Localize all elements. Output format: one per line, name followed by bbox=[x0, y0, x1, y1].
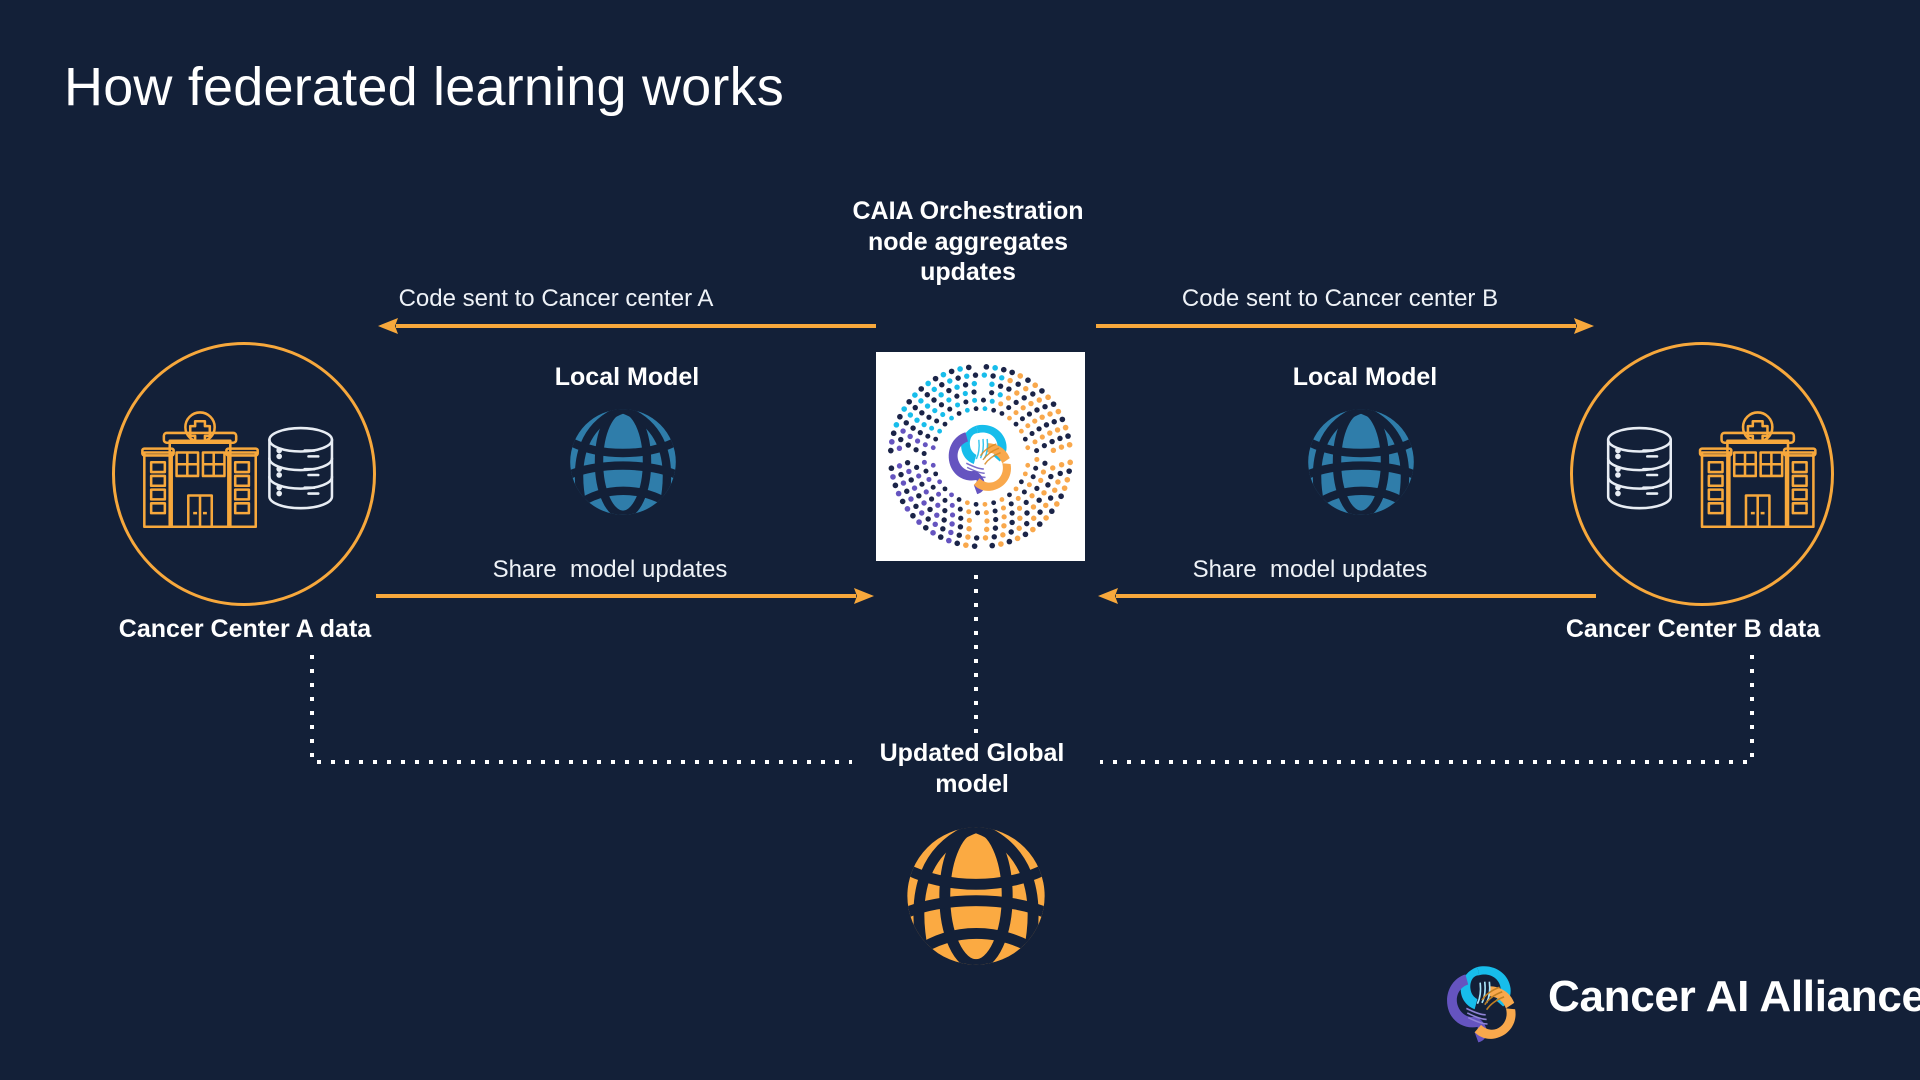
local-model-b-label: Local Model bbox=[1235, 362, 1495, 393]
globe-icon bbox=[1301, 402, 1421, 522]
orchestration-caption: CAIA Orchestration node aggregates updat… bbox=[838, 196, 1098, 288]
share-updates-a-label: Share model updates bbox=[400, 556, 820, 584]
globe-icon bbox=[898, 818, 1054, 974]
cancer-center-a-label: Cancer Center A data bbox=[60, 614, 430, 645]
cancer-center-a-icons bbox=[115, 345, 373, 603]
cancer-center-b-icons bbox=[1573, 345, 1831, 603]
code-sent-b-arrow bbox=[1096, 316, 1596, 336]
page-title: How federated learning works bbox=[64, 56, 784, 118]
share-updates-a-arrow bbox=[376, 586, 876, 606]
cancer-center-a-circle bbox=[112, 342, 376, 606]
code-sent-a-label: Code sent to Cancer center A bbox=[346, 285, 766, 313]
updated-global-model-label: Updated Global model bbox=[832, 738, 1112, 799]
cancer-center-b-circle bbox=[1570, 342, 1834, 606]
code-sent-a-arrow bbox=[376, 316, 876, 336]
cancer-center-b-label: Cancer Center B data bbox=[1508, 614, 1878, 645]
share-updates-b-label: Share model updates bbox=[1100, 556, 1520, 584]
slide-canvas: How federated learning works CAIA Orches… bbox=[0, 0, 1920, 1080]
brand-name: Cancer AI Alliance bbox=[1548, 972, 1920, 1022]
caia-dot-ring-logo-icon bbox=[876, 352, 1085, 561]
globe-icon bbox=[563, 402, 683, 522]
local-model-a-label: Local Model bbox=[497, 362, 757, 393]
code-sent-b-label: Code sent to Cancer center B bbox=[1130, 285, 1550, 313]
share-updates-b-arrow bbox=[1096, 586, 1596, 606]
three-hands-logo-icon bbox=[1432, 955, 1532, 1047]
